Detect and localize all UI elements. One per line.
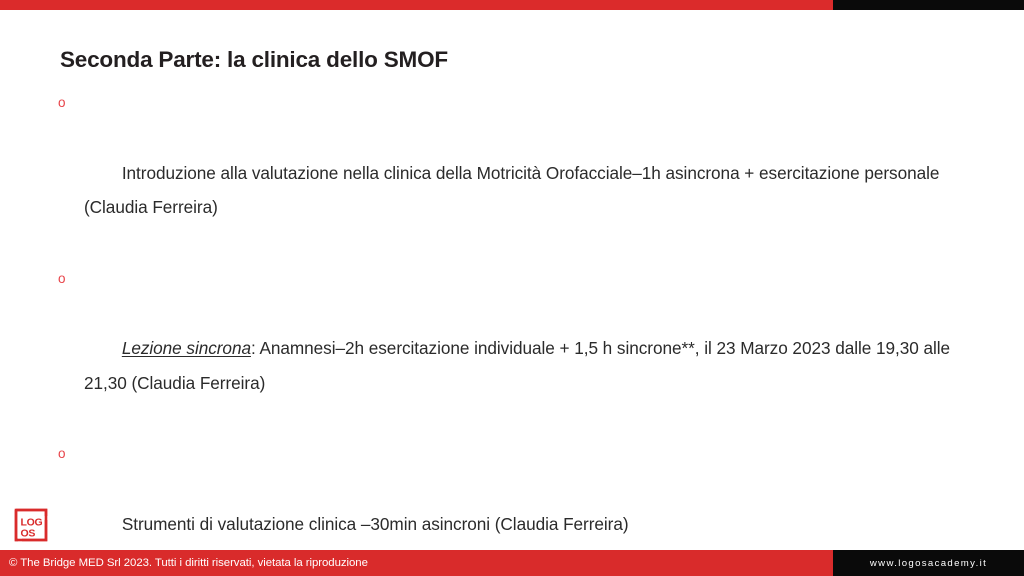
bullet-marker-icon: o	[58, 262, 74, 297]
bullet-marker-icon: o	[58, 437, 74, 472]
list-item-emphasis: Lezione sincrona	[122, 338, 251, 358]
bullet-list: o Introduzione alla valutazione nella cl…	[56, 86, 978, 576]
slide: Seconda Parte: la clinica dello SMOF o I…	[0, 0, 1024, 576]
bullet-marker-icon: o	[58, 86, 74, 121]
list-item-label: Strumenti di valutazione clinica –30min …	[122, 514, 629, 534]
copyright-text: © The Bridge MED Srl 2023. Tutti i dirit…	[0, 550, 833, 576]
logos-academy-logo-icon: LOG OS	[12, 506, 54, 544]
svg-text:OS: OS	[21, 528, 36, 540]
list-item: o Introduzione alla valutazione nella cl…	[56, 86, 978, 260]
list-item-label: Introduzione alla valutazione nella clin…	[84, 163, 944, 218]
website-url: www.logosacademy.it	[833, 550, 1024, 576]
top-bar-black-segment	[833, 0, 1024, 10]
top-bar-red-segment	[0, 0, 833, 10]
slide-content: Seconda Parte: la clinica dello SMOF o I…	[0, 10, 1024, 550]
page-title: Seconda Parte: la clinica dello SMOF	[60, 46, 978, 74]
list-item: o Lezione sincrona: Anamnesi–2h esercita…	[56, 262, 978, 436]
top-accent-bar	[0, 0, 1024, 10]
footer-bar: © The Bridge MED Srl 2023. Tutti i dirit…	[0, 550, 1024, 576]
